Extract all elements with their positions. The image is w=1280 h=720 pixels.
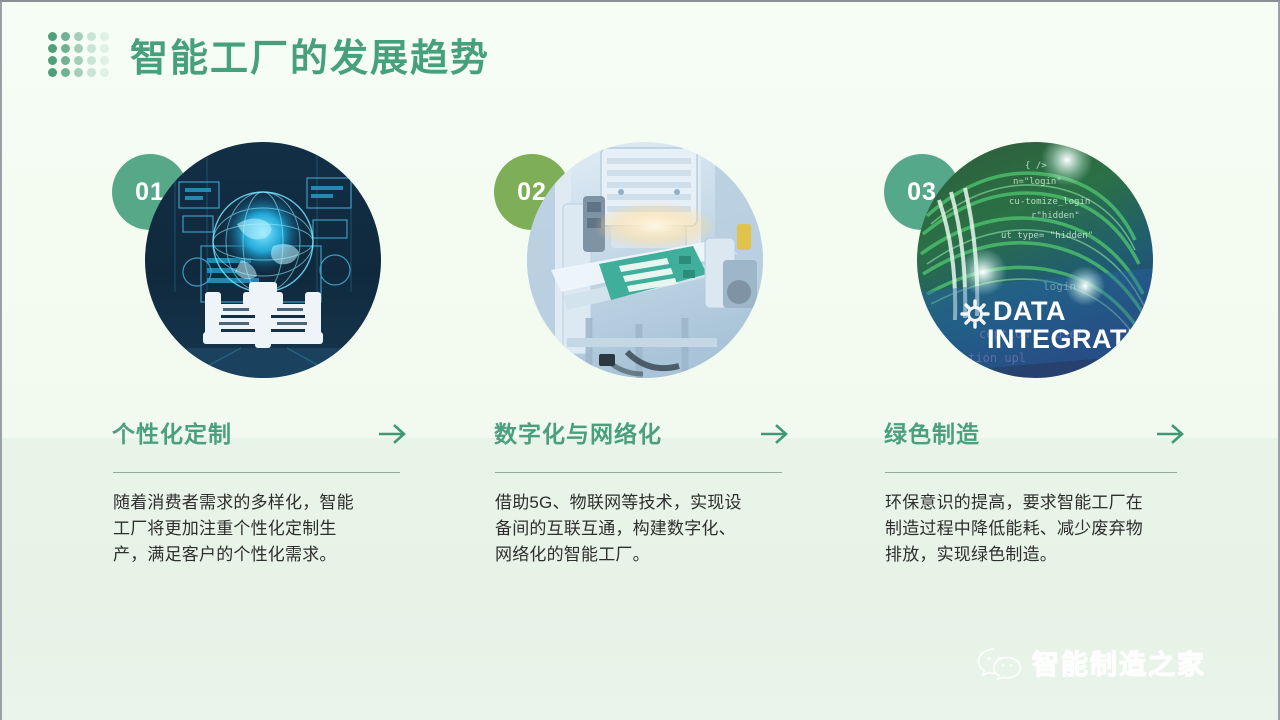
arrow-right-icon[interactable] [760,423,790,445]
card-divider [113,472,400,473]
card-title: 数字化与网络化 [494,419,662,449]
card-media: 02 [494,142,774,412]
card-photo [527,142,763,378]
watermark: 智能制造之家 [977,647,1206,683]
card-title: 个性化定制 [112,419,232,449]
dot-grid-decoration [48,32,113,80]
trend-card-1[interactable]: 01 [112,142,412,412]
slide: 智能工厂的发展趋势 01 [0,0,1280,720]
card-heading-row: 数字化与网络化 [494,412,794,456]
card-body-text: 环保意识的提高，要求智能工厂在制造过程中降低能耗、减少废弃物排放，实现绿色制造。 [885,490,1143,568]
arrow-right-icon[interactable] [378,423,408,445]
image-overlay-line1: DATA [993,296,1066,326]
trend-card-2[interactable]: 02 [494,142,794,412]
card-divider [495,472,782,473]
arrow-right-icon[interactable] [1156,423,1186,445]
svg-text:ut type= "hidden": ut type= "hidden" [1001,231,1093,241]
svg-text:r"hidden": r"hidden" [1031,211,1080,221]
trend-card-3[interactable]: 03 [884,142,1184,412]
card-photo: { /> n="login" cu-tomize_login r"hidden"… [917,142,1153,378]
watermark-label: 智能制造之家 [1032,648,1206,682]
page-title: 智能工厂的发展趋势 [130,35,490,83]
image-overlay-line2: INTEGRATION [987,324,1153,354]
card-heading-row: 个性化定制 [112,412,412,456]
card-media: 03 [884,142,1164,412]
slide-header: 智能工厂的发展趋势 [2,2,1280,112]
card-media: 01 [112,142,392,412]
svg-text:cu-tomize_login: cu-tomize_login [1009,197,1090,207]
card-title: 绿色制造 [884,419,980,449]
card-heading-row: 绿色制造 [884,412,1190,456]
card-divider [885,472,1177,473]
card-photo [145,142,381,378]
wechat-icon [977,647,1023,683]
card-body-text: 随着消费者需求的多样化，智能工厂将更加注重个性化定制生产，满足客户的个性化需求。 [113,490,363,568]
card-body-text: 借助5G、物联网等技术，实现设备间的互联互通，构建数字化、网络化的智能工厂。 [495,490,745,568]
